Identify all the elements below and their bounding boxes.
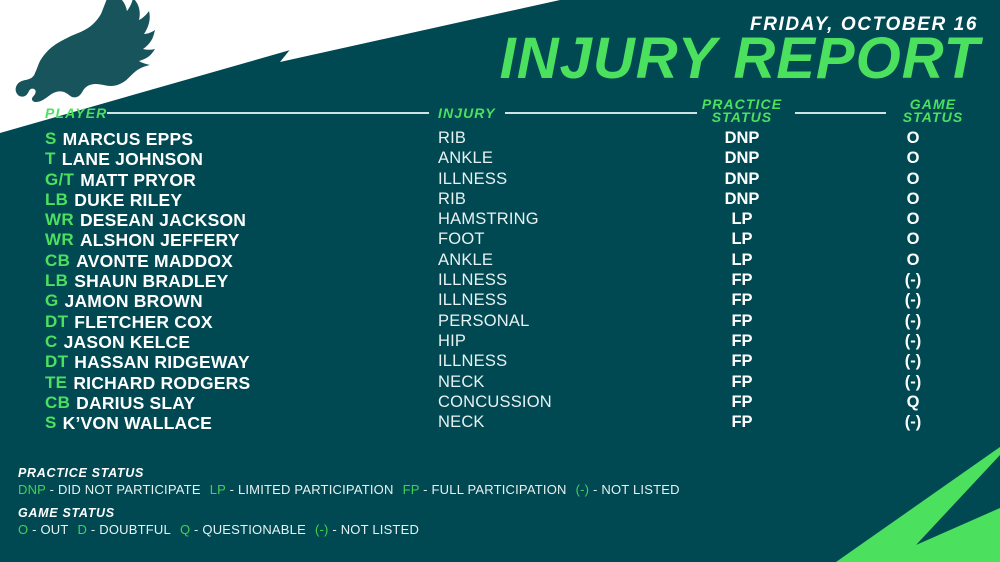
player-name: SHAUN BRADLEY [74,271,228,292]
legend-item: LP - LIMITED PARTICIPATION [210,482,394,497]
header-rule-1 [107,112,429,114]
legend-description: DOUBTFUL [99,522,171,537]
injury-table-body: SMARCUS EPPSRIBDNPOTLANE JOHNSONANKLEDNP… [0,129,1000,433]
table-row: SK’VON WALLACENECKFP(-) [0,413,1000,433]
legend-item: DNP - DID NOT PARTICIPATE [18,482,201,497]
legend-practice-status: PRACTICE STATUS DNP - DID NOT PARTICIPAT… [18,466,778,497]
player-name: MARCUS EPPS [63,129,194,150]
injury-type: ANKLE [438,149,493,168]
player-position: WR [45,230,74,250]
game-status-value: Q [907,393,920,412]
legend-game-items: O - OUTD - DOUBTFULQ - QUESTIONABLE(-) -… [18,522,778,537]
column-header-practice-status: PRACTICE STATUS [702,98,782,123]
game-status-value: (-) [905,332,921,351]
legend-description: FULL PARTICIPATION [432,482,567,497]
column-header-game-status: GAME STATUS [903,98,964,123]
player-position: S [45,413,57,433]
practice-status-value: LP [731,251,752,270]
game-status-value: O [907,149,920,168]
player-position: CB [45,393,70,413]
injury-report-graphic: FRIDAY, OCTOBER 16 INJURY REPORT PLAYER … [0,0,1000,562]
legend-description: LIMITED PARTICIPATION [238,482,394,497]
injury-type: FOOT [438,230,485,249]
table-row: DTHASSAN RIDGEWAYILLNESSFP(-) [0,352,1000,372]
player-position: S [45,129,57,149]
player-name: AVONTE MADDOX [76,251,233,272]
legend-game-status: GAME STATUS O - OUTD - DOUBTFULQ - QUEST… [18,506,778,537]
injury-type: CONCUSSION [438,393,552,412]
practice-status-line-2: STATUS [702,111,782,124]
game-status-value: (-) [905,271,921,290]
injury-type: RIB [438,129,466,148]
column-header-injury: INJURY [438,105,496,121]
practice-status-value: FP [731,373,752,392]
page-title: INJURY REPORT [500,29,980,88]
legend-key-practice: (-) [576,482,590,497]
practice-status-value: FP [731,413,752,432]
player-name: DESEAN JACKSON [80,210,246,231]
practice-status-value: DNP [725,190,760,209]
table-row: LBDUKE RILEYRIBDNPO [0,190,1000,210]
player-position: G/T [45,170,74,190]
injury-type: NECK [438,373,485,392]
game-status-value: O [907,129,920,148]
player-name: DUKE RILEY [74,190,182,211]
header-rule-2 [505,112,697,114]
legend-game-title: GAME STATUS [18,506,778,520]
table-row: G/TMATT PRYORILLNESSDNPO [0,170,1000,190]
injury-type: NECK [438,413,485,432]
practice-status-value: DNP [725,170,760,189]
legend-separator: - [28,522,40,537]
legend-item: D - DOUBTFUL [78,522,171,537]
practice-status-value: DNP [725,149,760,168]
legend-separator: - [87,522,99,537]
game-status-value: O [907,210,920,229]
legend-separator: - [589,482,601,497]
legend-key-game: O [18,522,28,537]
player-name: HASSAN RIDGEWAY [74,352,249,373]
player-position: C [45,332,58,352]
game-status-value: (-) [905,312,921,331]
table-row: DTFLETCHER COXPERSONALFP(-) [0,312,1000,332]
player-position: TE [45,373,67,393]
game-status-value: (-) [905,413,921,432]
legend-item: (-) - NOT LISTED [576,482,680,497]
injury-type: ILLNESS [438,291,507,310]
practice-status-value: LP [731,230,752,249]
practice-status-value: LP [731,210,752,229]
injury-type: RIB [438,190,466,209]
game-status-value: O [907,190,920,209]
column-header-player: PLAYER [45,105,107,121]
player-name: LANE JOHNSON [62,149,203,170]
game-status-value: O [907,230,920,249]
table-row: WRDESEAN JACKSONHAMSTRINGLPO [0,210,1000,230]
game-status-value: O [907,251,920,270]
legend-item: O - OUT [18,522,69,537]
legend-item: Q - QUESTIONABLE [180,522,306,537]
game-status-line-2: STATUS [903,111,964,124]
legend-key-practice: LP [210,482,226,497]
legend-key-game: D [78,522,88,537]
player-position: WR [45,210,74,230]
header-rule-3 [795,112,886,114]
player-position: LB [45,271,68,291]
injury-type: ILLNESS [438,352,507,371]
table-row: CBDARIUS SLAYCONCUSSIONFPQ [0,393,1000,413]
injury-type: ILLNESS [438,271,507,290]
player-name: FLETCHER COX [74,312,213,333]
legend-key-game: (-) [315,522,329,537]
legend-separator: - [419,482,431,497]
injury-type: ANKLE [438,251,493,270]
legend-item: FP - FULL PARTICIPATION [403,482,567,497]
practice-status-value: FP [731,312,752,331]
player-name: JASON KELCE [64,332,191,353]
player-position: DT [45,352,68,372]
legend-separator: - [329,522,341,537]
table-row: TERICHARD RODGERSNECKFP(-) [0,373,1000,393]
practice-status-value: FP [731,393,752,412]
injury-type: PERSONAL [438,312,529,331]
practice-status-value: FP [731,291,752,310]
player-position: DT [45,312,68,332]
table-row: SMARCUS EPPSRIBDNPO [0,129,1000,149]
game-status-value: (-) [905,352,921,371]
legend-description: DID NOT PARTICIPATE [58,482,201,497]
legend-practice-items: DNP - DID NOT PARTICIPATELP - LIMITED PA… [18,482,778,497]
injury-type: HAMSTRING [438,210,539,229]
practice-status-value: FP [731,332,752,351]
column-header-row: PLAYER INJURY PRACTICE STATUS GAME STATU… [0,100,1000,128]
legend-description: OUT [40,522,68,537]
practice-status-value: FP [731,352,752,371]
table-row: LBSHAUN BRADLEYILLNESSFP(-) [0,271,1000,291]
player-name: K’VON WALLACE [63,413,212,434]
injury-type: HIP [438,332,466,351]
table-row: TLANE JOHNSONANKLEDNPO [0,149,1000,169]
game-status-value: (-) [905,373,921,392]
legend-description: QUESTIONABLE [202,522,306,537]
table-row: CJASON KELCEHIPFP(-) [0,332,1000,352]
legend-description: NOT LISTED [341,522,419,537]
legend-separator: - [46,482,58,497]
player-name: ALSHON JEFFERY [80,230,240,251]
table-row: CBAVONTE MADDOXANKLELPO [0,251,1000,271]
player-name: JAMON BROWN [65,291,203,312]
player-position: G [45,291,59,311]
legend-separator: - [190,522,202,537]
player-name: RICHARD RODGERS [73,373,250,394]
legend: PRACTICE STATUS DNP - DID NOT PARTICIPAT… [18,466,778,546]
practice-status-value: FP [731,271,752,290]
legend-separator: - [226,482,238,497]
game-status-value: (-) [905,291,921,310]
legend-item: (-) - NOT LISTED [315,522,419,537]
legend-key-game: Q [180,522,190,537]
practice-status-value: DNP [725,129,760,148]
player-position: LB [45,190,68,210]
player-position: T [45,149,56,169]
table-row: WRALSHON JEFFERYFOOTLPO [0,230,1000,250]
injury-type: ILLNESS [438,170,507,189]
legend-key-practice: FP [403,482,420,497]
player-position: CB [45,251,70,271]
player-name: DARIUS SLAY [76,393,195,414]
legend-description: NOT LISTED [601,482,679,497]
legend-practice-title: PRACTICE STATUS [18,466,778,480]
player-name: MATT PRYOR [80,170,196,191]
table-row: GJAMON BROWNILLNESSFP(-) [0,291,1000,311]
legend-key-practice: DNP [18,482,46,497]
game-status-value: O [907,170,920,189]
